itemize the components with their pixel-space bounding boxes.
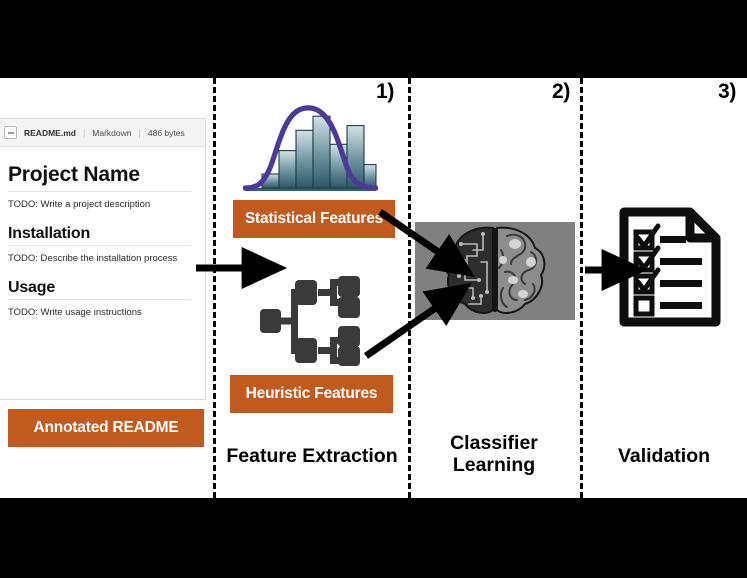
histogram-bell-curve-icon (243, 104, 378, 196)
file-icon (4, 126, 17, 139)
readme-rule-3 (8, 299, 191, 300)
readme-rule-2 (8, 245, 191, 246)
toolbar-separator-1: | (83, 128, 85, 138)
readme-filename: README.md (24, 128, 76, 138)
heuristic-features-label: Heuristic Features (230, 375, 393, 413)
stage-divider-1 (213, 78, 216, 498)
annotated-readme-card: README.md | Markdown | 486 bytes Project… (0, 118, 206, 400)
stage-number-1: 1) (376, 80, 394, 104)
readme-heading-usage: Usage (8, 279, 191, 297)
readme-filesize: 486 bytes (148, 128, 185, 138)
letterbox-top (0, 0, 747, 78)
readme-text-project-description: TODO: Write a project description (8, 199, 191, 210)
readme-toolbar: README.md | Markdown | 486 bytes (0, 119, 205, 147)
brain-circuit-icon (415, 222, 575, 320)
caption-feature-extraction: Feature Extraction (216, 446, 408, 468)
readme-rule-1 (8, 191, 191, 192)
readme-format: Markdown (92, 128, 131, 138)
readme-heading-project-name: Project Name (8, 163, 191, 187)
readme-text-usage: TODO: Write usage instructions (8, 307, 191, 318)
classifier-panel (415, 222, 575, 320)
diagram-canvas: README.md | Markdown | 486 bytes Project… (0, 78, 747, 498)
caption-validation: Validation (584, 446, 744, 468)
tree-hierarchy-icon (258, 276, 360, 366)
letterbox-bottom (0, 498, 747, 578)
toolbar-separator-2: | (139, 128, 141, 138)
annotated-readme-label: Annotated README (8, 409, 204, 447)
statistical-features-label: Statistical Features (233, 200, 395, 238)
checklist-document-icon (618, 206, 722, 328)
readme-heading-installation: Installation (8, 225, 191, 243)
readme-text-installation: TODO: Describe the installation process (8, 253, 191, 264)
readme-body: Project Name TODO: Write a project descr… (0, 147, 205, 318)
stage-number-2: 2) (552, 80, 570, 104)
stage-divider-3 (580, 78, 583, 498)
caption-classifier-learning: Classifier Learning (411, 433, 577, 477)
diagram-root: README.md | Markdown | 486 bytes Project… (0, 0, 747, 578)
stage-number-3: 3) (718, 80, 736, 104)
